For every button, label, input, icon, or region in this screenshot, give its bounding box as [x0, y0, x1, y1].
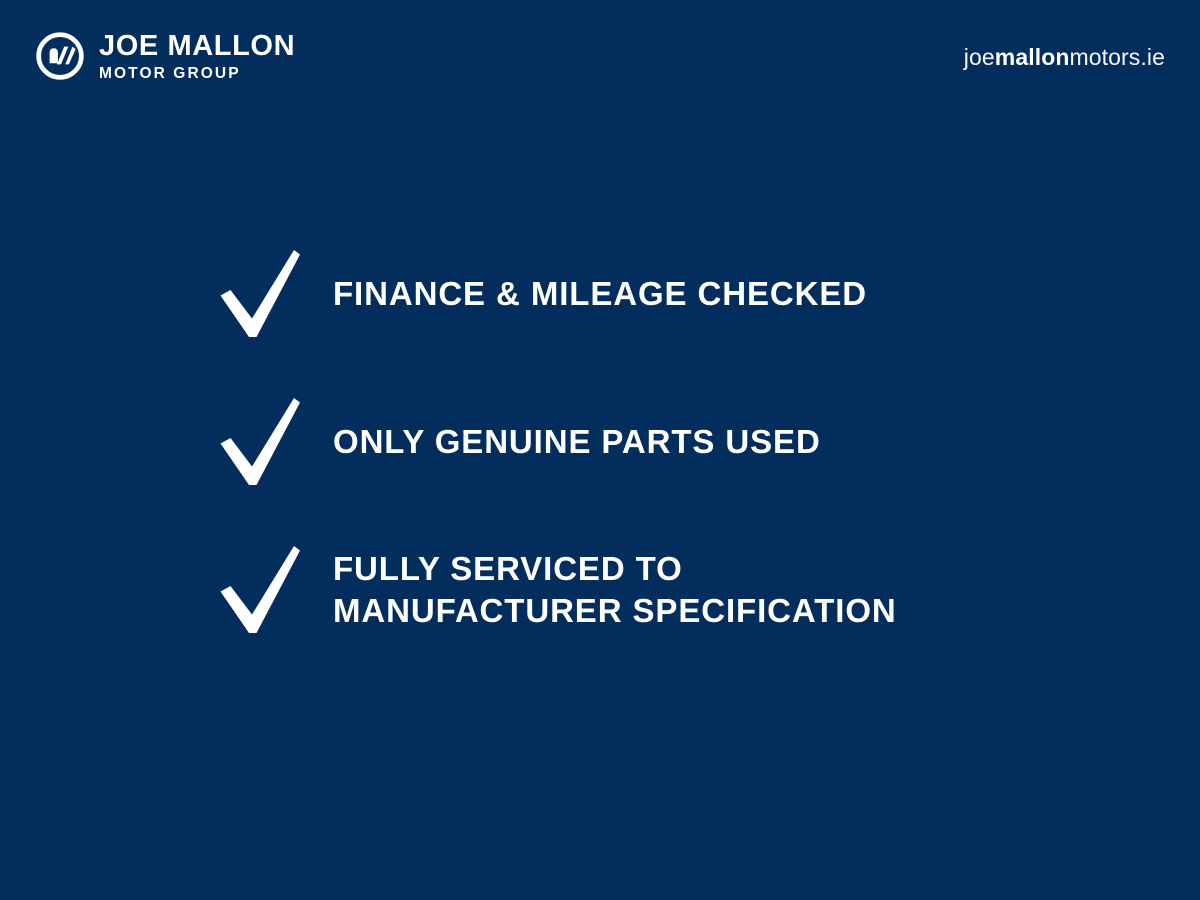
brand-wordmark: JOE MALLON MOTOR GROUP	[99, 31, 295, 82]
website-url-prefix: joe	[964, 44, 995, 70]
website-url-highlight: mallon	[995, 44, 1070, 70]
feature-list: FINANCE & MILEAGE CHECKED ONLY GENUINE P…	[218, 246, 1118, 638]
promo-slide: JOE MALLON MOTOR GROUP joemallonmotors.i…	[0, 0, 1200, 900]
joe-mallon-monogram-icon	[34, 30, 86, 82]
list-item: FINANCE & MILEAGE CHECKED	[218, 246, 1118, 342]
checkmark-icon	[218, 396, 302, 488]
brand-subtitle: MOTOR GROUP	[99, 66, 295, 82]
website-url-suffix: motors.ie	[1070, 44, 1165, 70]
brand-logo[interactable]: JOE MALLON MOTOR GROUP	[34, 30, 295, 82]
checkmark-icon	[218, 544, 302, 636]
list-item-label: ONLY GENUINE PARTS USED	[333, 421, 821, 463]
website-url[interactable]: joemallonmotors.ie	[964, 46, 1165, 69]
checkmark-icon	[218, 248, 302, 340]
list-item: FULLY SERVICED TO MANUFACTURER SPECIFICA…	[218, 542, 1118, 638]
list-item-label: FINANCE & MILEAGE CHECKED	[333, 273, 867, 315]
list-item: ONLY GENUINE PARTS USED	[218, 394, 1118, 490]
brand-name: JOE MALLON	[99, 32, 295, 61]
list-item-label: FULLY SERVICED TO MANUFACTURER SPECIFICA…	[333, 548, 897, 632]
